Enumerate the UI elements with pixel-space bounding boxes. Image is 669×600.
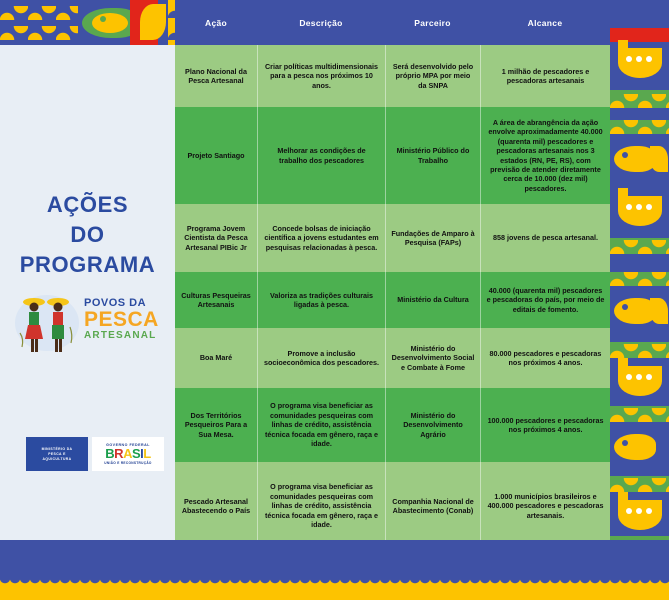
cell-parceiro: Companhia Nacional de Abastecimento (Con… xyxy=(385,462,480,550)
fisherfolk-illustration-icon xyxy=(14,293,80,355)
cell-alcance: 1 milhão de pescadores e pescadoras arte… xyxy=(480,45,610,107)
zigzag-border xyxy=(0,578,669,600)
column-header-parceiro: Parceiro xyxy=(385,0,480,45)
table-row: Dos Territórios Pesqueiros Para a Sua Me… xyxy=(175,388,610,462)
cell-descricao: O programa visa beneficiar as comunidade… xyxy=(257,462,385,550)
cell-descricao: O programa visa beneficiar as comunidade… xyxy=(257,388,385,462)
column-header-acao: Ação xyxy=(175,0,257,45)
uniao-reconstrucao-label: UNIÃO E RECONSTRUÇÃO xyxy=(104,461,151,465)
table-row: Pescado Artesanal Abastecendo o PaísO pr… xyxy=(175,462,610,550)
cell-descricao: Promove a inclusão socioeconômica dos pe… xyxy=(257,328,385,388)
cell-alcance: A área de abrangência da ação envolve ap… xyxy=(480,107,610,204)
cell-alcance: 40.000 (quarenta mil) pescadores e pesca… xyxy=(480,272,610,328)
brasil-wordmark: BRASIL xyxy=(105,447,150,461)
cell-parceiro: Fundações de Amparo à Pesquisa (FAPs) xyxy=(385,204,480,272)
governo-federal-brasil-logo: GOVERNO FEDERAL BRASIL UNIÃO E RECONSTRU… xyxy=(92,437,164,471)
ministry-line-3: AQUICULTURA xyxy=(42,457,71,462)
table-row: Plano Nacional da Pesca ArtesanalCriar p… xyxy=(175,45,610,107)
page-title: AÇÕES DO PROGRAMA xyxy=(0,190,175,280)
bottom-decorative-band xyxy=(0,540,669,600)
cell-acao: Culturas Pesqueiras Artesanais xyxy=(175,272,257,328)
cell-acao: Boa Maré xyxy=(175,328,257,388)
cell-alcance: 858 jovens de pesca artesanal. xyxy=(480,204,610,272)
cell-acao: Programa Jovem Cientista da Pesca Artesa… xyxy=(175,204,257,272)
cell-descricao: Melhorar as condições de trabalho dos pe… xyxy=(257,107,385,204)
cell-descricao: Concede bolsas de iniciação científica a… xyxy=(257,204,385,272)
title-line-3: PROGRAMA xyxy=(0,250,175,280)
table-row: Projeto SantiagoMelhorar as condições de… xyxy=(175,107,610,204)
cell-parceiro: Será desenvolvido pelo próprio MPA por m… xyxy=(385,45,480,107)
cell-acao: Dos Territórios Pesqueiros Para a Sua Me… xyxy=(175,388,257,462)
cell-parceiro: Ministério do Desenvolvimento Agrário xyxy=(385,388,480,462)
cell-descricao: Criar políticas multidimensionais para a… xyxy=(257,45,385,107)
left-panel: AÇÕES DO PROGRAMA POVOS DA xyxy=(0,45,175,540)
cell-alcance: 100.000 pescadores e pescadoras nos próx… xyxy=(480,388,610,462)
government-logos: MINISTÉRIO DA PESCA E AQUICULTURA GOVERN… xyxy=(26,437,166,473)
table-row: Culturas Pesqueiras ArtesanaisValoriza a… xyxy=(175,272,610,328)
table-header-row: Ação Descrição Parceiro Alcance xyxy=(175,0,610,45)
logo-line-pesca: PESCA xyxy=(84,309,159,330)
table-body: Plano Nacional da Pesca ArtesanalCriar p… xyxy=(175,45,610,550)
infographic-page: AÇÕES DO PROGRAMA POVOS DA xyxy=(0,0,669,600)
logo-line-artesanal: ARTESANAL xyxy=(84,330,159,341)
ministry-of-fisheries-logo: MINISTÉRIO DA PESCA E AQUICULTURA xyxy=(26,437,88,471)
cell-parceiro: Ministério Público do Trabalho xyxy=(385,107,480,204)
cell-acao: Pescado Artesanal Abastecendo o País xyxy=(175,462,257,550)
table-row: Boa MaréPromove a inclusão socioeconômic… xyxy=(175,328,610,388)
column-header-alcance: Alcance xyxy=(480,0,610,45)
table-row: Programa Jovem Cientista da Pesca Artesa… xyxy=(175,204,610,272)
cell-acao: Plano Nacional da Pesca Artesanal xyxy=(175,45,257,107)
actions-table: Ação Descrição Parceiro Alcance Plano Na… xyxy=(175,0,610,550)
cell-alcance: 1.000 municípios brasileiros e 400.000 p… xyxy=(480,462,610,550)
right-decorative-band xyxy=(610,0,669,600)
title-line-1: AÇÕES xyxy=(0,190,175,220)
title-line-2: DO xyxy=(0,220,175,250)
column-header-descricao: Descrição xyxy=(257,0,385,45)
povos-da-pesca-artesanal-logo: POVOS DA PESCA ARTESANAL xyxy=(14,293,164,355)
cell-parceiro: Ministério do Desenvolvimento Social e C… xyxy=(385,328,480,388)
cell-descricao: Valoriza as tradições culturais ligadas … xyxy=(257,272,385,328)
cell-parceiro: Ministério da Cultura xyxy=(385,272,480,328)
cell-acao: Projeto Santiago xyxy=(175,107,257,204)
cell-alcance: 80.000 pescadores e pescadoras nos próxi… xyxy=(480,328,610,388)
